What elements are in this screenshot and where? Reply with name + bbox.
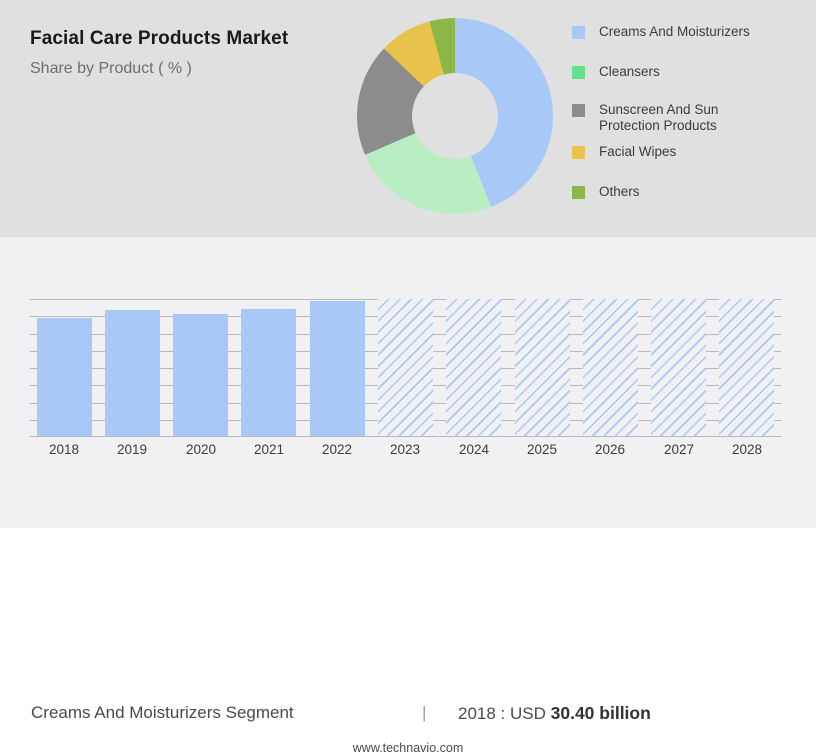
- legend-label-cleansers: Cleansers: [599, 64, 660, 80]
- page-title: Facial Care Products Market: [30, 28, 288, 50]
- infographic-canvas: Facial Care Products Market Share by Pro…: [0, 0, 816, 528]
- page-subtitle: Share by Product ( % ): [30, 60, 192, 78]
- bar-2025[interactable]: [515, 299, 570, 437]
- legend-item-creams[interactable]: Creams And Moisturizers: [572, 24, 750, 40]
- x-axis-label-2027: 2027: [644, 442, 714, 457]
- legend-label-sunscreen: Sunscreen And Sun Protection Products: [599, 102, 762, 133]
- legend-label-facial-wipes: Facial Wipes: [599, 144, 676, 160]
- bar-chart-x-axis-labels: 2018201920202021202220232024202520262027…: [30, 442, 781, 464]
- legend-swatch-icon-creams: [572, 26, 585, 39]
- bar-2028[interactable]: [719, 299, 774, 437]
- donut-hole: [412, 73, 498, 159]
- x-axis-label-2028: 2028: [712, 442, 782, 457]
- legend-item-sunscreen[interactable]: Sunscreen And Sun Protection Products: [572, 102, 762, 133]
- bar-2023[interactable]: [378, 299, 433, 437]
- legend-swatch-icon-others: [572, 186, 585, 199]
- footer-separator: |: [422, 703, 426, 723]
- footer-segment-label: Creams And Moisturizers Segment: [31, 703, 294, 723]
- x-axis-label-2026: 2026: [575, 442, 645, 457]
- legend-item-facial-wipes[interactable]: Facial Wipes: [572, 144, 676, 160]
- footer-value-prefix: 2018 : USD: [458, 704, 546, 723]
- donut-chart: [353, 14, 557, 218]
- x-axis-label-2018: 2018: [29, 442, 99, 457]
- bar-2026[interactable]: [583, 299, 638, 437]
- footer-value-block: 2018 : USD 30.40 billion: [458, 703, 651, 724]
- x-axis-label-2022: 2022: [302, 442, 372, 457]
- x-axis-label-2025: 2025: [507, 442, 577, 457]
- footer-value: 30.40 billion: [551, 703, 651, 723]
- donut-chart-svg: [353, 14, 557, 218]
- legend-label-creams: Creams And Moisturizers: [599, 24, 750, 40]
- bar-2019[interactable]: [105, 310, 160, 437]
- x-axis-label-2020: 2020: [166, 442, 236, 457]
- legend-swatch-icon-facial-wipes: [572, 146, 585, 159]
- x-axis-label-2021: 2021: [234, 442, 304, 457]
- bar-2020[interactable]: [173, 314, 228, 437]
- bar-2024[interactable]: [446, 299, 501, 437]
- bar-chart-bars: [30, 299, 781, 437]
- bar-2018[interactable]: [37, 318, 92, 437]
- bar-chart-baseline: [30, 436, 781, 437]
- x-axis-label-2023: 2023: [370, 442, 440, 457]
- legend-swatch-icon-cleansers: [572, 66, 585, 79]
- legend-swatch-icon-sunscreen: [572, 104, 585, 117]
- bar-2022[interactable]: [310, 301, 365, 437]
- legend-label-others: Others: [599, 184, 640, 200]
- x-axis-label-2024: 2024: [439, 442, 509, 457]
- legend-item-cleansers[interactable]: Cleansers: [572, 64, 660, 80]
- bar-chart-plot-area: [30, 299, 781, 437]
- bottom-panel: 2018201920202021202220232024202520262027…: [0, 237, 816, 528]
- footer-summary: Creams And Moisturizers Segment | 2018 :…: [0, 703, 816, 735]
- bar-2027[interactable]: [651, 299, 706, 437]
- x-axis-label-2019: 2019: [97, 442, 167, 457]
- bar-2021[interactable]: [241, 309, 296, 437]
- legend-item-others[interactable]: Others: [572, 184, 640, 200]
- top-panel: Facial Care Products Market Share by Pro…: [0, 0, 816, 237]
- source-url: www.technavio.com: [0, 741, 816, 755]
